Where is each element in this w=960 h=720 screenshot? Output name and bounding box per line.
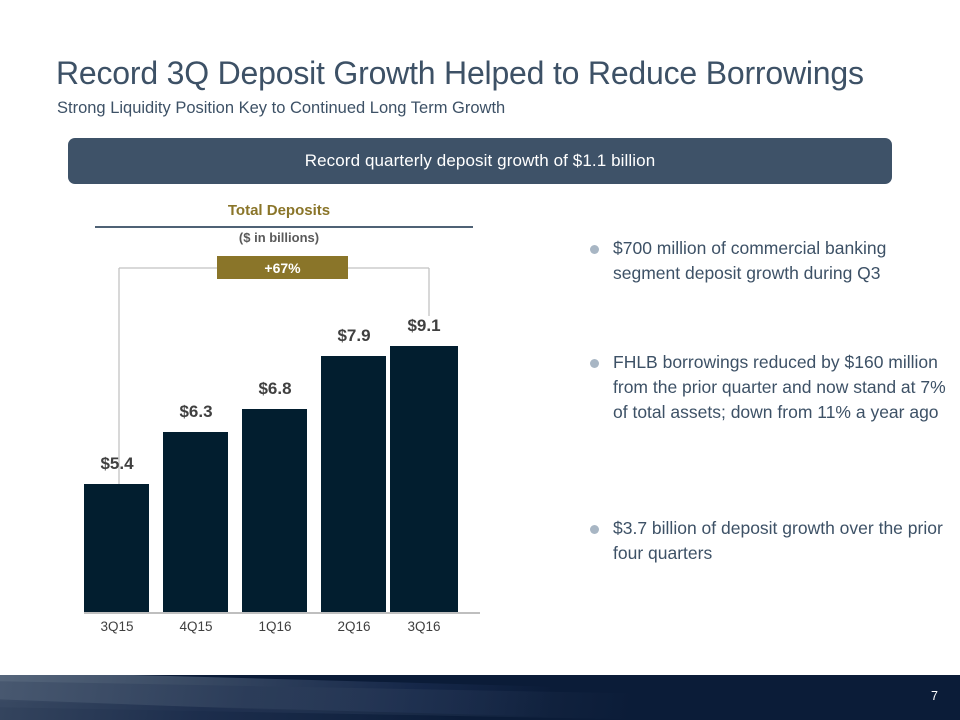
- chart-plot-area: $5.4 $6.3 $6.8 $7.9 $9.1 3Q15 4Q15 1Q16 …: [84, 198, 484, 648]
- highlight-banner: Record quarterly deposit growth of $1.1 …: [68, 138, 892, 184]
- list-item: FHLB borrowings reduced by $160 million …: [590, 350, 950, 425]
- category-label-1Q16: 1Q16: [239, 619, 311, 634]
- bar-value-3Q15: $5.4: [81, 454, 153, 474]
- bar-value-2Q16: $7.9: [318, 326, 390, 346]
- page-number: 7: [931, 689, 938, 703]
- bar-2Q16: [321, 356, 386, 612]
- page-subtitle: Strong Liquidity Position Key to Continu…: [57, 99, 505, 119]
- bullet-dot-icon: [590, 245, 599, 254]
- bullet-dot-icon: [590, 525, 599, 534]
- bar-4Q15: [163, 432, 228, 612]
- bar-3Q16: [390, 346, 458, 612]
- slide: Record 3Q Deposit Growth Helped to Reduc…: [0, 0, 960, 720]
- bullet-dot-icon: [590, 359, 599, 368]
- bullet-text: $700 million of commercial banking segme…: [613, 236, 950, 286]
- category-label-3Q16: 3Q16: [388, 619, 460, 634]
- page-title: Record 3Q Deposit Growth Helped to Reduc…: [56, 56, 936, 91]
- highlight-banner-text: Record quarterly deposit growth of $1.1 …: [305, 151, 656, 171]
- bar-1Q16: [242, 409, 307, 612]
- list-item: $3.7 billion of deposit growth over the …: [590, 516, 950, 566]
- category-label-3Q15: 3Q15: [81, 619, 153, 634]
- bar-value-1Q16: $6.8: [239, 379, 311, 399]
- chart-axis-line: [84, 612, 480, 614]
- bar-3Q15: [84, 484, 149, 612]
- bar-value-3Q16: $9.1: [388, 316, 460, 336]
- bar-value-4Q15: $6.3: [160, 402, 232, 422]
- category-label-4Q15: 4Q15: [160, 619, 232, 634]
- deposits-chart: Total Deposits ($ in billions) +67% $5.4…: [84, 198, 484, 648]
- bullet-text: FHLB borrowings reduced by $160 million …: [613, 350, 950, 425]
- list-item: $700 million of commercial banking segme…: [590, 236, 950, 286]
- category-label-2Q16: 2Q16: [318, 619, 390, 634]
- slide-footer: 7: [0, 675, 960, 720]
- bullet-text: $3.7 billion of deposit growth over the …: [613, 516, 950, 566]
